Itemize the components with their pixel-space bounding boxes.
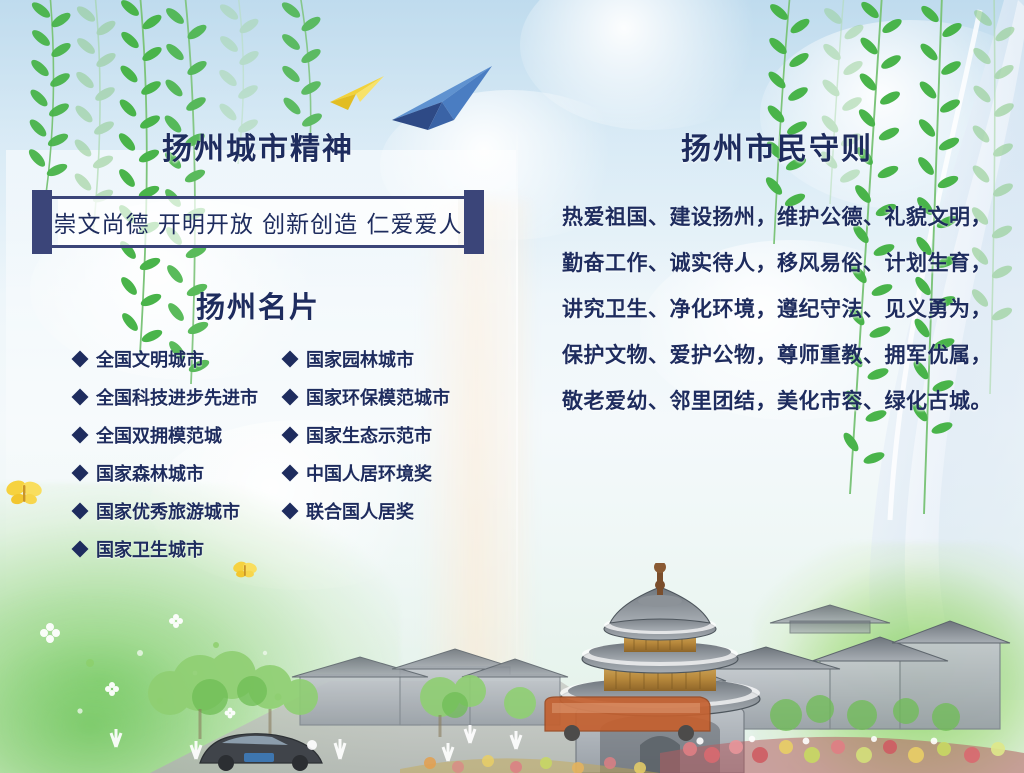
spirit-banner: 崇文尚德 开明开放 创新创造 仁爱爱人 (32, 190, 484, 254)
diamond-bullet-icon (72, 389, 89, 406)
card-label: 全国双拥模范城 (96, 422, 222, 448)
banner-bar-right (464, 190, 484, 254)
banner-rule-bottom (38, 245, 478, 248)
card-label: 联合国人居奖 (306, 498, 414, 524)
list-item: 国家森林城市 (74, 454, 274, 492)
cards-column-left: 全国文明城市 全国科技进步先进市 全国双拥模范城 国家森林城市 国家优秀旅游城市 (74, 340, 274, 568)
cards-column-right: 国家园林城市 国家环保模范城市 国家生态示范市 中国人居环境奖 联合国人居奖 (284, 340, 499, 530)
card-label: 中国人居环境奖 (306, 460, 432, 486)
cards-title: 扬州名片 (0, 284, 516, 326)
city-illustration (0, 563, 1024, 773)
diamond-bullet-icon (72, 541, 89, 558)
paper-plane-icon (326, 72, 388, 114)
card-label: 全国文明城市 (96, 346, 204, 372)
card-label: 国家卫生城市 (96, 536, 204, 562)
poster-canvas: 扬州城市精神 崇文尚德 开明开放 创新创造 仁爱爱人 扬州名片 全国文明城市 全… (0, 0, 1024, 773)
diamond-bullet-icon (282, 351, 299, 368)
spirit-banner-text: 崇文尚德 开明开放 创新创造 仁爱爱人 (54, 205, 463, 239)
card-label: 国家生态示范市 (306, 422, 432, 448)
list-item: 联合国人居奖 (284, 492, 499, 530)
card-label: 国家优秀旅游城市 (96, 498, 240, 524)
list-item: 国家生态示范市 (284, 416, 499, 454)
diamond-bullet-icon (72, 427, 89, 444)
code-line: 敬老爱幼、邻里团结，美化市容、绿化古城。 (530, 378, 1024, 424)
code-lines: 热爱祖国、建设扬州，维护公德、礼貌文明， 勤奋工作、诚实待人，移风易俗、计划生育… (530, 194, 1024, 424)
code-title: 扬州市民守则 (530, 124, 1024, 168)
diamond-bullet-icon (282, 503, 299, 520)
diamond-bullet-icon (72, 465, 89, 482)
banner-bar-left (32, 190, 52, 254)
list-item: 全国文明城市 (74, 340, 274, 378)
list-item: 国家优秀旅游城市 (74, 492, 274, 530)
cards-grid: 全国文明城市 全国科技进步先进市 全国双拥模范城 国家森林城市 国家优秀旅游城市 (0, 340, 516, 578)
left-column: 扬州城市精神 崇文尚德 开明开放 创新创造 仁爱爱人 扬州名片 全国文明城市 全… (0, 124, 516, 578)
diamond-bullet-icon (282, 389, 299, 406)
diamond-bullet-icon (72, 503, 89, 520)
spirit-title: 扬州城市精神 (0, 124, 516, 168)
list-item: 全国双拥模范城 (74, 416, 274, 454)
card-label: 全国科技进步先进市 (96, 384, 258, 410)
code-line: 讲究卫生、净化环境，遵纪守法、见义勇为， (530, 286, 1024, 332)
code-line: 保护文物、爱护公物，尊师重教、拥军优属， (530, 332, 1024, 378)
list-item: 中国人居环境奖 (284, 454, 499, 492)
list-item: 国家园林城市 (284, 340, 499, 378)
right-column: 扬州市民守则 热爱祖国、建设扬州，维护公德、礼貌文明， 勤奋工作、诚实待人，移风… (530, 124, 1024, 424)
list-item: 国家环保模范城市 (284, 378, 499, 416)
diamond-bullet-icon (72, 351, 89, 368)
list-item: 国家卫生城市 (74, 530, 274, 568)
code-line: 勤奋工作、诚实待人，移风易俗、计划生育， (530, 240, 1024, 286)
card-label: 国家森林城市 (96, 460, 204, 486)
diamond-bullet-icon (282, 427, 299, 444)
code-line: 热爱祖国、建设扬州，维护公德、礼貌文明， (530, 194, 1024, 240)
banner-inner: 崇文尚德 开明开放 创新创造 仁爱爱人 (58, 199, 458, 245)
diamond-bullet-icon (282, 465, 299, 482)
card-label: 国家园林城市 (306, 346, 414, 372)
list-item: 全国科技进步先进市 (74, 378, 274, 416)
card-label: 国家环保模范城市 (306, 384, 450, 410)
